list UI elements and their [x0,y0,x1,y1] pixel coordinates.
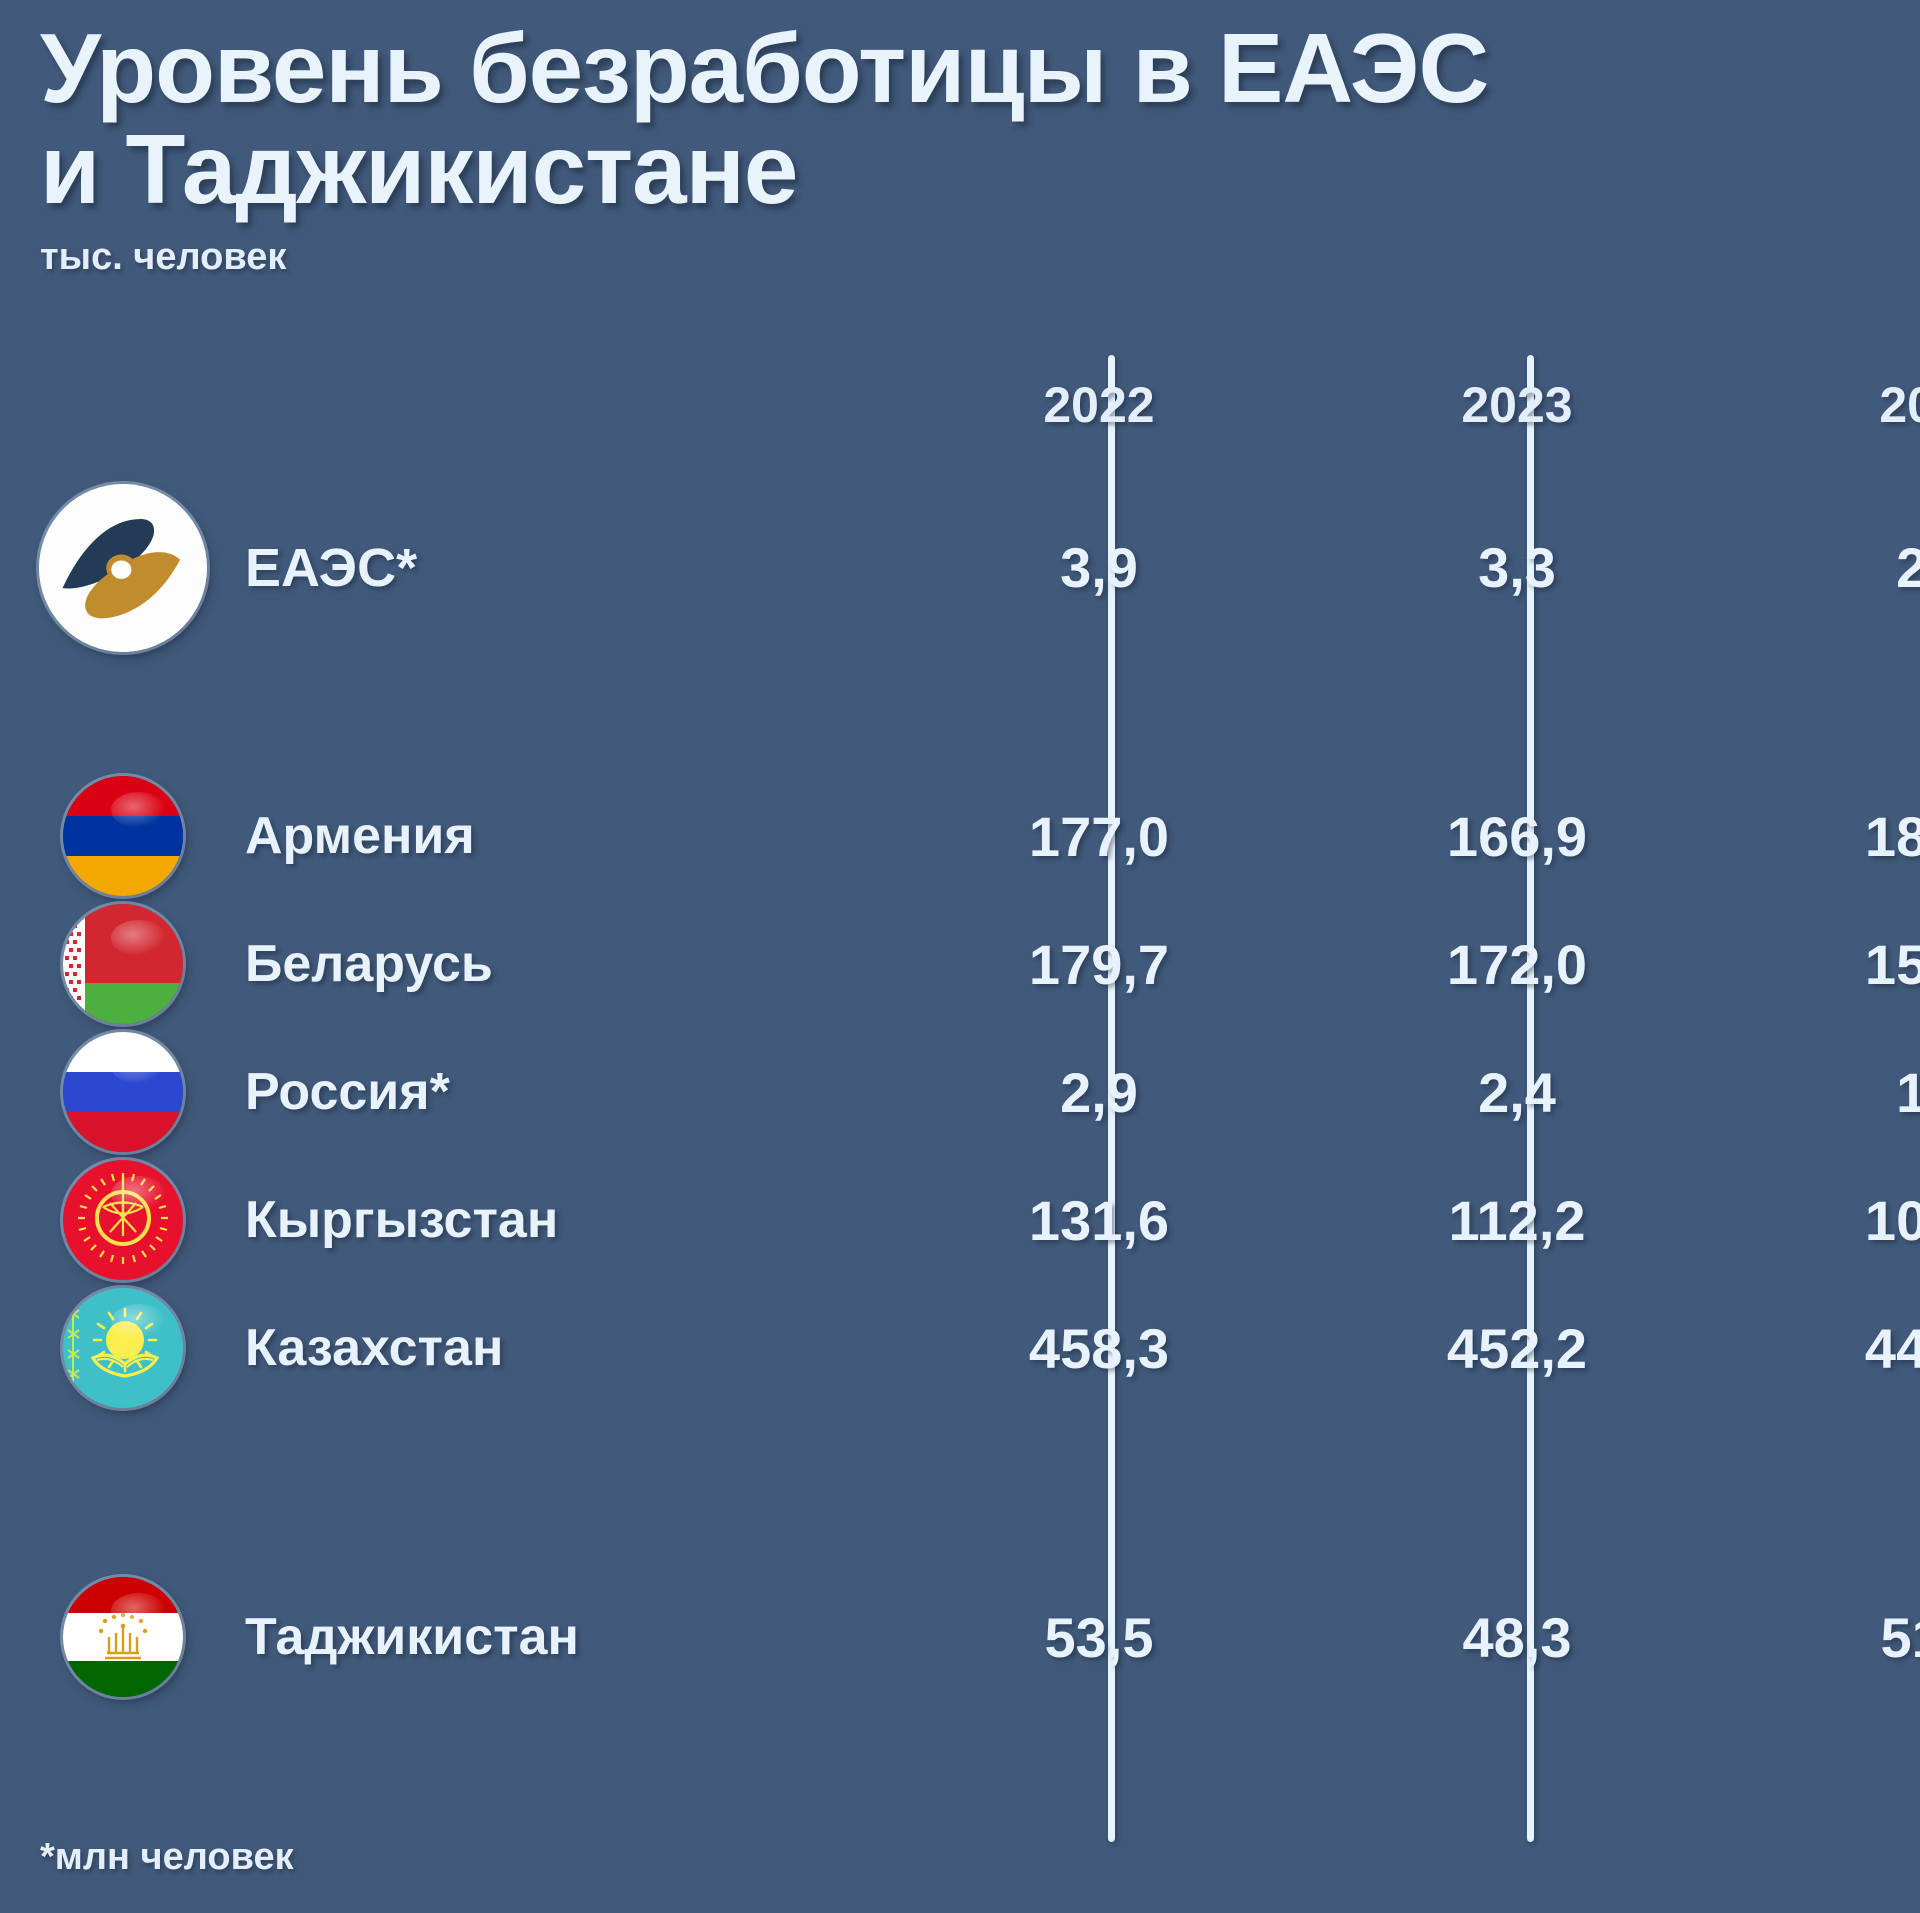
infographic-header: Уровень безработицы в ЕАЭС и Таджикистан… [0,0,1920,279]
row-label-belarus: Беларусь [245,934,865,994]
eaeu-emblem-svg [39,484,207,652]
kazakhstan-value-2023: 452,2 [1308,1316,1726,1381]
kazakhstan-value-2024: 449,8 [1726,1316,1920,1381]
kazakh-sun-eagle-icon [63,1288,183,1408]
row-label-russia: Россия* [245,1062,865,1122]
group-gap-before-tajikistan [0,1412,1920,1542]
kyrgyzstan-value-2024: 104,7 [1726,1188,1920,1253]
unemployment-table: 2022 2023 2024 ЕАЭС* 3,9 3,3 2,8 [0,355,1920,1732]
belarus-value-2024: 150,4 [1726,932,1920,997]
flag-tajikistan-icon [63,1577,183,1697]
armenia-value-2024: 182,0 [1726,804,1920,869]
column-header-2022: 2022 [890,376,1308,434]
table-row-armenia: Армения 177,0 166,9 182,0 [0,772,1920,900]
tajikistan-value-2023: 48,3 [1308,1605,1726,1670]
tajikistan-value-2024: 51,4 [1726,1605,1920,1670]
page-title: Уровень безработицы в ЕАЭС и Таджикистан… [40,18,1920,220]
russia-flag-cell [0,1032,245,1152]
row-label-kyrgyzstan: Кыргызстан [245,1190,865,1250]
eaeu-value-2022: 3,9 [890,535,1308,600]
kyrgyzstan-value-2022: 131,6 [890,1188,1308,1253]
column-header-2023: 2023 [1308,376,1726,434]
russia-value-2024: 1,9 [1726,1060,1920,1125]
units-subtitle: тыс. человек [40,236,1920,279]
armenia-value-2023: 166,9 [1308,804,1726,869]
kazakhstan-flag-cell [0,1288,245,1408]
eaeu-value-2024: 2,8 [1726,535,1920,600]
tajikistan-value-2022: 53,5 [890,1605,1308,1670]
group-gap-after-eaeu [0,680,1920,772]
flag-armenia-icon [63,776,183,896]
flag-kyrgyzstan-icon [63,1160,183,1280]
flag-belarus-icon [63,904,183,1024]
table-header-row: 2022 2023 2024 [0,355,1920,455]
kyrgyz-sun-icon [63,1160,183,1280]
belarus-value-2023: 172,0 [1308,932,1726,997]
belarus-value-2022: 179,7 [890,932,1308,997]
eaeu-logo-icon [39,484,207,652]
flag-kazakhstan-icon [63,1288,183,1408]
table-row-tajikistan: Таджикистан 53,5 48,3 51,4 [0,1542,1920,1732]
row-label-tajikistan: Таджикистан [245,1607,865,1667]
belarus-ornament-icon [63,904,183,1024]
armenia-value-2022: 177,0 [890,804,1308,869]
kyrgyzstan-value-2023: 112,2 [1308,1188,1726,1253]
belarus-flag-cell [0,904,245,1024]
tajik-crown-stars-icon [63,1577,183,1697]
row-label-eaeu: ЕАЭС* [245,537,865,599]
table-row-kyrgyzstan: Кыргызстан 131,6 112,2 104,7 [0,1156,1920,1284]
table-row-kazakhstan: Казахстан 458,3 452,2 449,8 [0,1284,1920,1412]
kyrgyzstan-flag-cell [0,1160,245,1280]
russia-value-2022: 2,9 [890,1060,1308,1125]
eaeu-logo-cell [0,484,245,652]
flag-russia-icon [63,1032,183,1152]
row-label-kazakhstan: Казахстан [245,1318,865,1378]
table-row-belarus: Беларусь 179,7 172,0 150,4 [0,900,1920,1028]
table-row-russia: Россия* 2,9 2,4 1,9 [0,1028,1920,1156]
russia-value-2023: 2,4 [1308,1060,1726,1125]
footnote-units: *млн человек [40,1836,294,1879]
row-label-armenia: Армения [245,806,865,866]
table-row-eaeu: ЕАЭС* 3,9 3,3 2,8 [0,455,1920,680]
eaeu-value-2023: 3,3 [1308,535,1726,600]
column-header-2024: 2024 [1726,376,1920,434]
tajikistan-flag-cell [0,1577,245,1697]
kazakhstan-value-2022: 458,3 [890,1316,1308,1381]
armenia-flag-cell [0,776,245,896]
